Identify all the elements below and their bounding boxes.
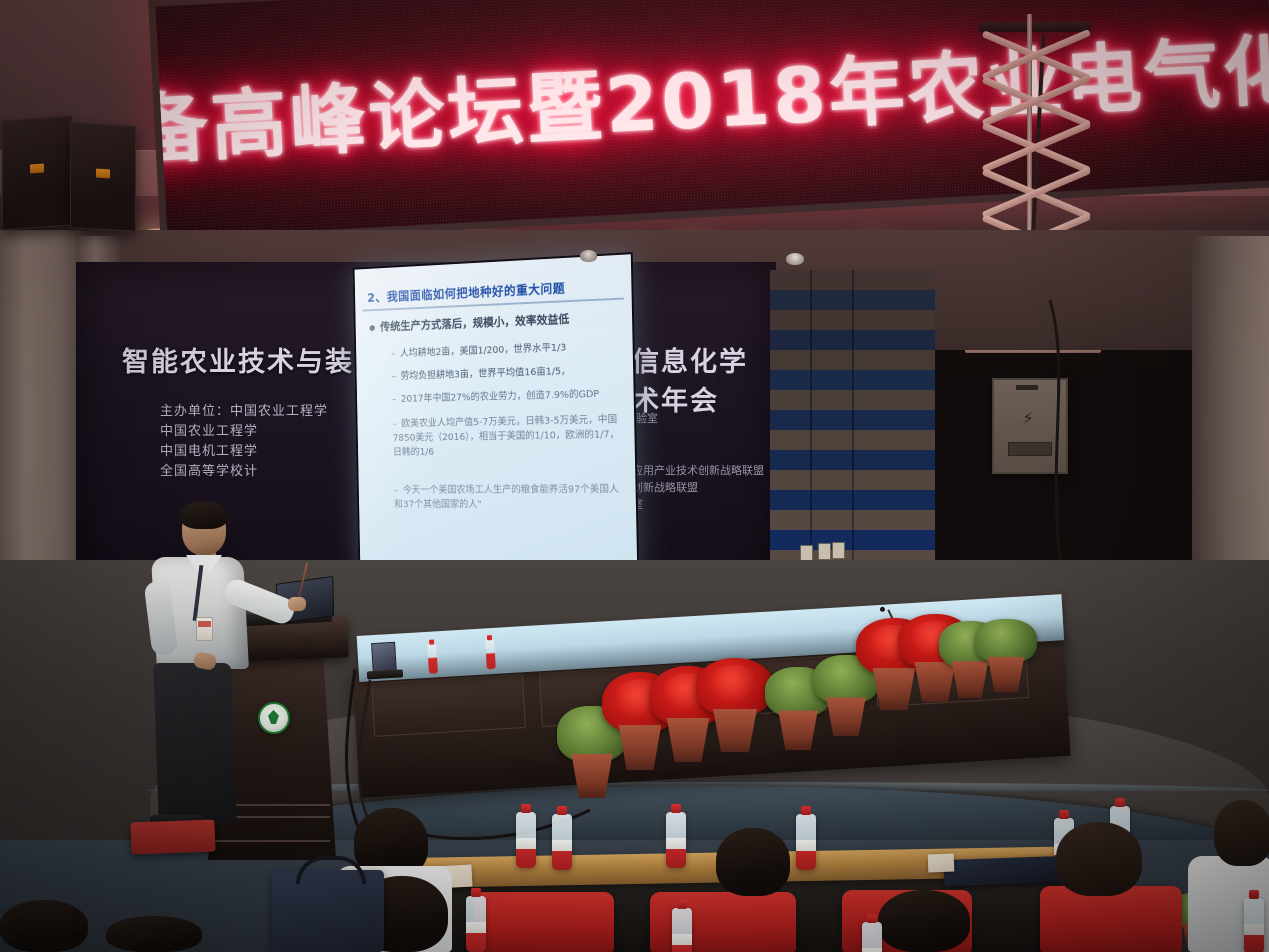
- backdrop-lab-line: 验室: [636, 410, 658, 427]
- conference-hall-photo: 智能农业技术与装备高峰论坛暨2018年农业电气化与信息化学术年会 智能农业技术与…: [0, 0, 1269, 952]
- loudspeaker-left-a: [2, 116, 72, 231]
- led-banner-text: 智能农业技术与装备高峰论坛暨2018年农业电气化与信息化学术年会: [155, 0, 1269, 212]
- red-floor-mat: [130, 820, 215, 855]
- wall-switch[interactable]: [818, 543, 831, 560]
- auditorium-seat[interactable]: [1040, 886, 1182, 952]
- audience-head: [716, 828, 790, 896]
- presenter: [140, 505, 290, 835]
- audience-head: [1056, 822, 1142, 896]
- conference-badge: [196, 617, 213, 641]
- dash-icon: –: [394, 485, 399, 495]
- audience-head: [0, 900, 88, 952]
- water-bottle[interactable]: [672, 908, 692, 952]
- slide-sub-bullet: –欧美农业人均产值5-7万美元，日韩3-5万美元，中国7850美元（2016），…: [392, 412, 627, 460]
- bullet-dot-icon: [370, 325, 375, 331]
- slide-heading: 2、我国面临如何把地种好的重大问题: [367, 275, 622, 306]
- water-bottle[interactable]: [796, 814, 816, 870]
- water-bottle[interactable]: [666, 812, 686, 868]
- projection-screen: 2、我国面临如何把地种好的重大问题 传统生产方式落后，规模小，效率效益低 –人均…: [353, 252, 640, 574]
- dash-icon: –: [392, 419, 397, 430]
- wall-cable: [1030, 300, 1120, 600]
- potted-foliage: [982, 616, 1030, 692]
- slide-sub-bullet: –人均耕地2亩，美国1/200，世界水平1/3: [391, 338, 625, 361]
- wall-switch[interactable]: [832, 542, 845, 559]
- dash-icon: –: [391, 349, 396, 360]
- backdrop-title-right: 信息化学术年会: [632, 340, 776, 418]
- water-bottle[interactable]: [862, 922, 882, 952]
- striped-wall-panels: [770, 270, 935, 570]
- backdrop-title-left: 智能农业技术与装: [122, 340, 354, 379]
- backdrop-alliance-lines: 应用产业技术创新战略联盟 创新战略联盟 室: [632, 462, 764, 513]
- slide-sub-bullet: –2017年中国27%的农业劳力，创造7.9%的GDP: [392, 386, 626, 407]
- backdrop-host-organizations: 主办单位：中国农业工程学 中国农业工程学 中国电机工程学 全国高等学校计: [160, 402, 328, 482]
- slide-sub-bullet: –劳均负担耕地3亩，世界平均值16亩1/5，: [391, 362, 625, 384]
- auditorium-seat[interactable]: [474, 892, 614, 952]
- dome-camera-icon: [580, 250, 597, 262]
- water-bottle[interactable]: [466, 896, 486, 952]
- water-bottle[interactable]: [1244, 898, 1264, 952]
- audience-head: [1214, 800, 1269, 866]
- dome-camera-icon: [786, 253, 804, 265]
- water-bottle[interactable]: [552, 814, 572, 870]
- slide-main-bullet: 传统生产方式落后，规模小，效率效益低: [369, 309, 624, 335]
- dash-icon: –: [391, 372, 396, 383]
- document-papers[interactable]: [928, 854, 955, 873]
- loudspeaker-left-b: [70, 122, 136, 231]
- closed-laptop[interactable]: [944, 856, 1065, 886]
- potted-poinsettia: [706, 658, 764, 752]
- audience-head: [878, 890, 970, 952]
- slide-sub-bullet: –今天一个美国农场工人生产的粮食能养活97个美国人和37个其他国家的人": [394, 482, 629, 512]
- dash-icon: –: [392, 394, 397, 405]
- audience-head: [106, 916, 202, 952]
- water-bottle[interactable]: [516, 812, 536, 868]
